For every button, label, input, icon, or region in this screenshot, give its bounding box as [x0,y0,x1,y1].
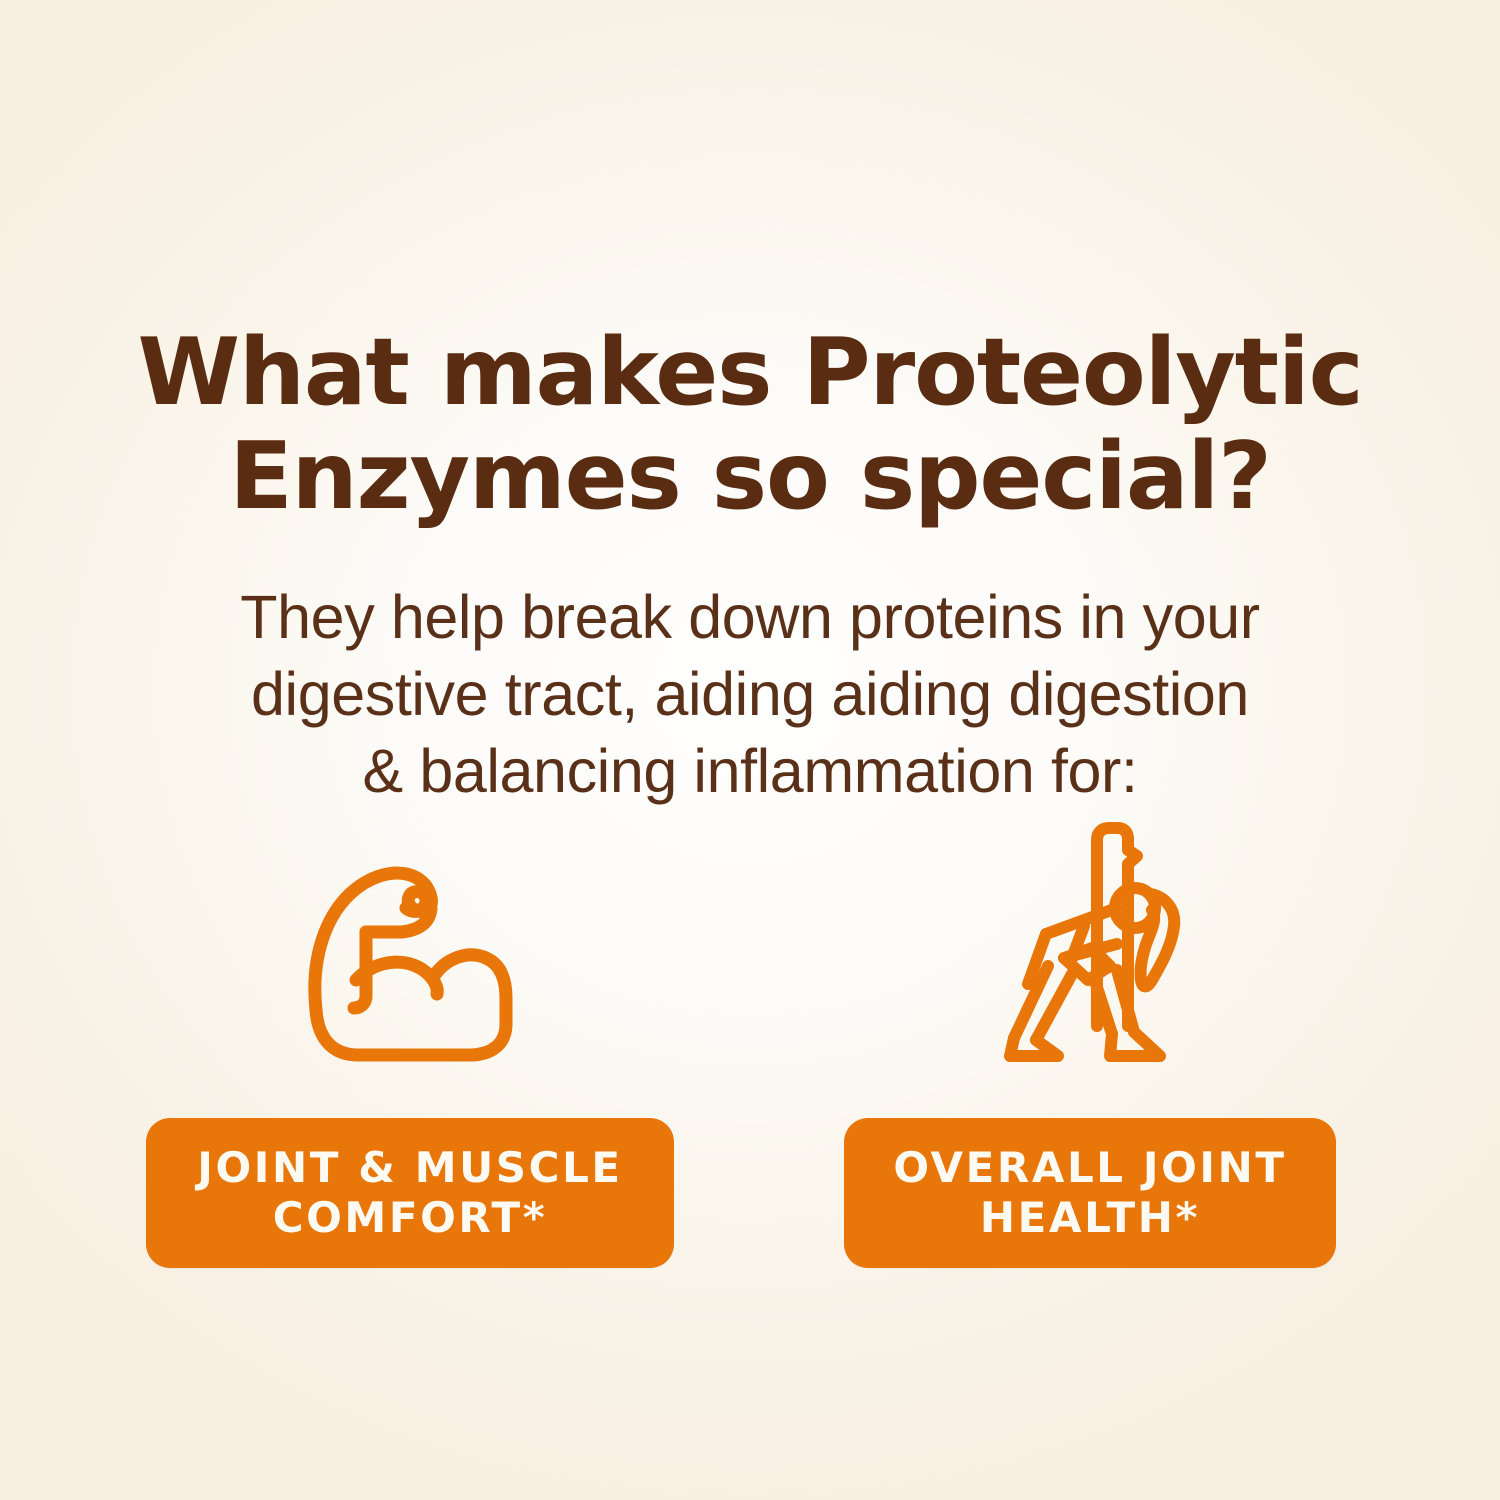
subcopy-line-1: They help break down proteins in your [130,579,1370,656]
yoga-triangle-pose-icon [984,770,1196,1070]
benefit-label-overall-joint-health[interactable]: OVERALL JOINT HEALTH* [844,1118,1336,1268]
benefit-item-joint-muscle-comfort: JOINT & MUSCLE COMFORT* [130,770,690,1268]
pill-left-line-2: COMFORT* [273,1193,548,1242]
benefit-item-overall-joint-health: OVERALL JOINT HEALTH* [810,770,1370,1268]
benefit-label-joint-muscle-comfort[interactable]: JOINT & MUSCLE COMFORT* [146,1118,674,1268]
pill-left-line-1: JOINT & MUSCLE [197,1143,622,1192]
infographic-canvas: What makes Proteolytic Enzymes so specia… [0,0,1500,1500]
flexed-bicep-icon [294,770,526,1070]
pill-right-line-2: HEALTH* [980,1193,1200,1242]
pill-right-line-1: OVERALL JOINT [893,1143,1286,1192]
page-title: What makes Proteolytic Enzymes so specia… [0,320,1500,528]
headline-line-2: Enzymes so special? [120,424,1380,528]
subcopy-line-2: digestive tract, aiding aiding digestion [130,656,1370,733]
benefits-row: JOINT & MUSCLE COMFORT* [130,770,1370,1268]
headline-line-1: What makes Proteolytic [120,320,1380,424]
